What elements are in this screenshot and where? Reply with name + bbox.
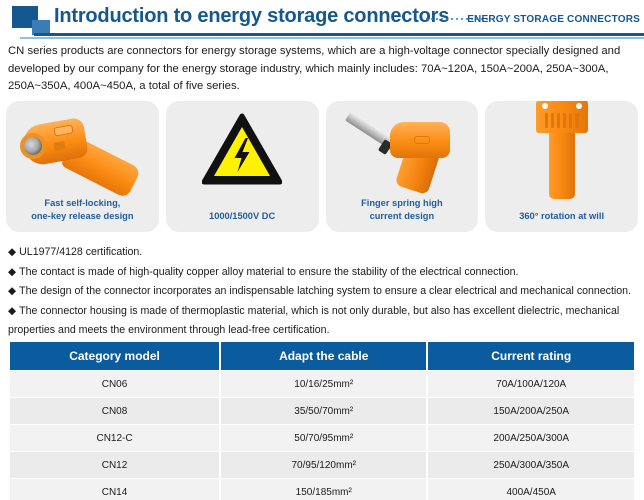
table-cell: 200A/250A/300A <box>428 425 634 451</box>
table-header-cell: Category model <box>10 342 219 370</box>
bullet-marker-icon: ◆ <box>8 266 16 278</box>
card-caption-line1: Fast self-locking, <box>10 197 155 210</box>
energy-storage-connector-page: Introduction to energy storage connector… <box>0 0 644 500</box>
feature-card-row: Fast self-locking, one-key release desig… <box>6 101 638 232</box>
table-cell: CN08 <box>10 398 219 424</box>
page-header: Introduction to energy storage connector… <box>0 0 644 40</box>
table-row: CN12-C50/70/95mm²200A/250A/300A <box>10 425 634 451</box>
separator-dot <box>431 18 433 20</box>
table-cell: 70/95/120mm² <box>221 452 426 478</box>
table-row: CN0610/16/25mm²70A/100A/120A <box>10 371 634 397</box>
specification-table: Category model Adapt the cable Current r… <box>8 341 636 500</box>
intro-paragraph: CN series products are connectors for en… <box>8 43 636 96</box>
feature-bullet-text: The design of the connector incorporates… <box>19 285 631 297</box>
card-caption-line1: 360° rotation at will <box>489 210 634 223</box>
separator-dot <box>446 18 448 20</box>
feature-card-finger-spring: Finger spring high current design <box>326 101 479 232</box>
orange-self-locking-connector-icon <box>12 106 152 192</box>
separator-dot <box>456 18 458 20</box>
table-cell: 70A/100A/120A <box>428 371 634 397</box>
feature-card-rotation: 360° rotation at will <box>485 101 638 232</box>
feature-bullet-item: ◆The connector housing is made of thermo… <box>8 302 636 341</box>
table-cell: 10/16/25mm² <box>221 371 426 397</box>
table-cell: 150A/200A/250A <box>428 398 634 424</box>
page-title: Introduction to energy storage connector… <box>54 5 449 28</box>
card-caption: Finger spring high current design <box>330 197 475 222</box>
separator-dot <box>461 18 463 20</box>
feature-bullet-text: The contact is made of high-quality copp… <box>19 266 518 278</box>
feature-card-self-locking: Fast self-locking, one-key release desig… <box>6 101 159 232</box>
bullet-marker-icon: ◆ <box>8 285 16 297</box>
bullet-marker-icon: ◆ <box>8 246 16 258</box>
rotating-connector-housing-icon <box>536 101 588 199</box>
table-cell: CN14 <box>10 479 219 500</box>
bullet-marker-icon: ◆ <box>8 305 16 317</box>
table-row: CN14150/185mm²400A/450A <box>10 479 634 500</box>
feature-bullet-list: ◆UL1977/4128 certification.◆The contact … <box>8 243 636 341</box>
feature-bullet-item: ◆The contact is made of high-quality cop… <box>8 263 636 283</box>
feature-bullet-item: ◆The design of the connector incorporate… <box>8 282 636 302</box>
table-header-cell: Current rating <box>428 342 634 370</box>
header-kicker: ENERGY STORAGE CONNECTORS <box>467 14 640 25</box>
feature-bullet-text: UL1977/4128 certification. <box>19 246 142 258</box>
header-rule-secondary <box>20 37 644 39</box>
card-caption-line2: current design <box>330 210 475 223</box>
separator-dot <box>436 18 438 20</box>
card-art <box>6 105 159 193</box>
header-rule-primary <box>34 33 644 36</box>
separator-dot <box>426 18 428 20</box>
table-header-row: Category model Adapt the cable Current r… <box>10 342 634 370</box>
card-art <box>326 105 479 193</box>
feature-bullet-text: The connector housing is made of thermop… <box>8 305 619 337</box>
high-voltage-hazard-triangle-icon <box>202 113 282 185</box>
card-caption: 1000/1500V DC <box>170 210 315 223</box>
card-caption-line1: Finger spring high <box>330 197 475 210</box>
card-caption-line1: 1000/1500V DC <box>170 210 315 223</box>
table-row: CN0835/50/70mm²150A/200A/250A <box>10 398 634 424</box>
card-caption: 360° rotation at will <box>489 210 634 223</box>
separator-dot <box>441 18 443 20</box>
table-cell: 250A/300A/350A <box>428 452 634 478</box>
table-cell: 400A/450A <box>428 479 634 500</box>
card-caption-line2: one-key release design <box>10 210 155 223</box>
table-cell: CN06 <box>10 371 219 397</box>
table-cell: 150/185mm² <box>221 479 426 500</box>
two-squares-logo-icon <box>12 6 58 36</box>
table-cell: 50/70/95mm² <box>221 425 426 451</box>
feature-card-voltage: 1000/1500V DC <box>166 101 319 232</box>
card-art <box>166 105 319 193</box>
table-cell: CN12-C <box>10 425 219 451</box>
card-caption: Fast self-locking, one-key release desig… <box>10 197 155 222</box>
table-cell: 35/50/70mm² <box>221 398 426 424</box>
table-header-cell: Adapt the cable <box>221 342 426 370</box>
feature-bullet-item: ◆UL1977/4128 certification. <box>8 243 636 263</box>
card-art <box>485 105 638 193</box>
separator-dot <box>451 18 453 20</box>
table-cell: CN12 <box>10 452 219 478</box>
finger-spring-contact-connector-icon <box>332 106 472 192</box>
table-row: CN1270/95/120mm²250A/300A/350A <box>10 452 634 478</box>
